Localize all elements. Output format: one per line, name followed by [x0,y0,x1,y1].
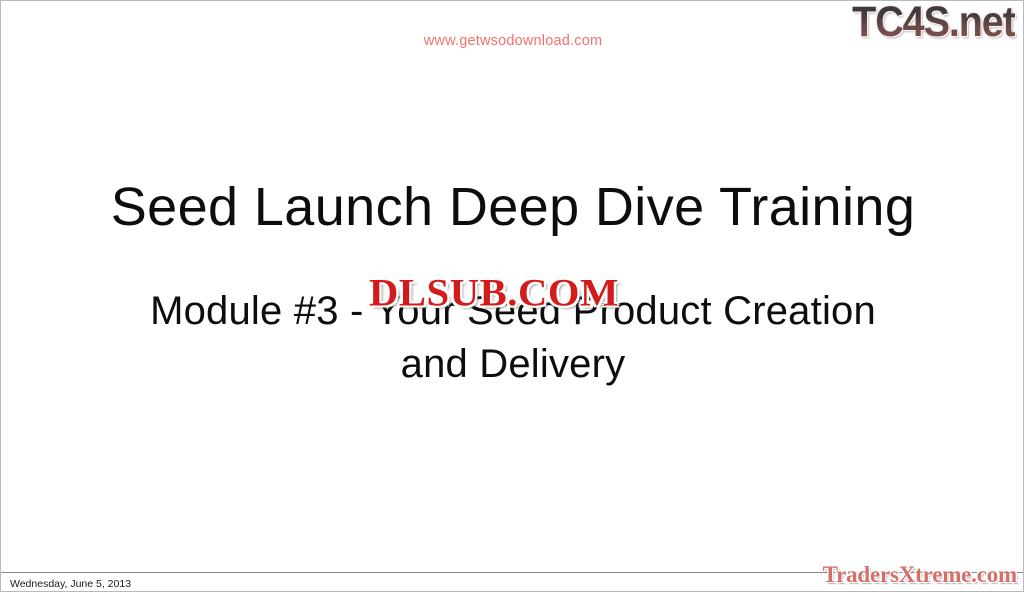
dlsub-overlay-watermark: DLSUB.COM [369,273,619,314]
subtitle-line-2: and Delivery [113,338,913,391]
slide-title: Seed Launch Deep Dive Training [1,175,1024,239]
tradersxtreme-watermark: TradersXtreme.com [823,562,1017,588]
title-block: Seed Launch Deep Dive Training [1,175,1024,239]
footer-date: Wednesday, June 5, 2013 [10,577,131,591]
tc4s-logo-watermark: TC4S.net [852,0,1015,45]
presentation-slide: www.getwsodownload.com TC4S.net Seed Lau… [0,0,1024,592]
